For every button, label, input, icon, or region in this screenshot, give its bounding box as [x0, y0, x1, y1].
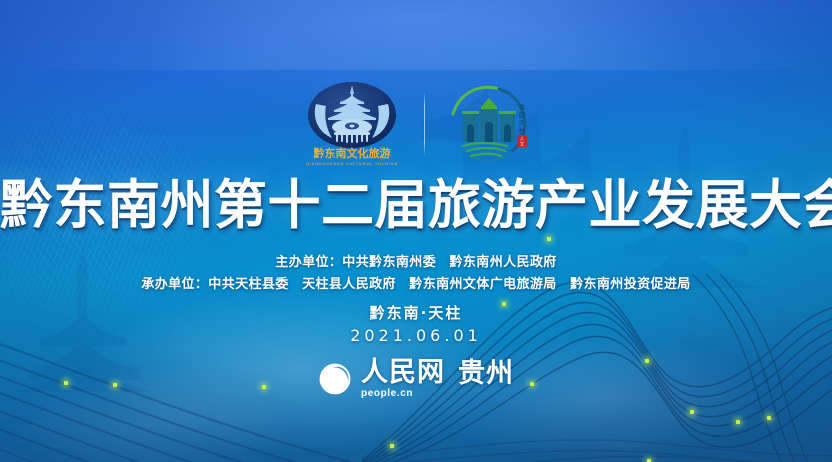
organizer-line-co-host: 承办单位：中共天柱县委 天柱县人民政府 黔东南州文体广电旅游局 黔东南州投资促进…	[0, 274, 832, 296]
spark-dot	[390, 444, 394, 448]
place-date-block: 黔东南·天柱 2021.06.01	[0, 302, 832, 348]
people-cn-globe-icon	[318, 362, 352, 396]
organizer-block: 主办单位：中共黔东南州委 黔东南州人民政府 承办单位：中共天柱县委 天柱县人民政…	[0, 252, 832, 296]
spark-dot	[547, 237, 551, 241]
brand-name-cn: 人民网	[361, 358, 445, 387]
spark-dot	[736, 420, 740, 424]
brand-domain: people.cn	[361, 388, 413, 400]
archway-emblem: 古 韵 天 柱 人 文	[441, 82, 537, 166]
emblem-right-text-2: 韵	[518, 110, 525, 119]
brand-province: 贵州	[458, 359, 514, 389]
people-cn-brand: 人民网 people.cn 贵州	[0, 358, 832, 400]
page-title: 黔东南州第十二届旅游产业发展大会	[0, 176, 832, 236]
emblem-left-chinese-text: 黔东南文化旅游	[313, 146, 390, 160]
emblem-seal-text-2: 文	[519, 141, 524, 148]
event-date: 2021.06.01	[0, 324, 832, 348]
emblem-right-text-4: 柱	[518, 126, 525, 135]
emblem-right-text-3: 天	[518, 119, 525, 127]
event-location: 黔东南·天柱	[0, 302, 832, 324]
spark-dot	[767, 416, 771, 420]
emblem-left-latin-text: QIANDONGNAN CULTURAL TOURISM	[305, 161, 397, 166]
organizer-line-host: 主办单位：中共黔东南州委 黔东南州人民政府	[0, 252, 832, 274]
emblem-right-text-1: 古	[518, 102, 525, 111]
qiandongnan-culture-tourism-emblem: 黔东南文化旅游 QIANDONGNAN CULTURAL TOURISM	[296, 80, 408, 168]
emblem-row: 黔东南文化旅游 QIANDONGNAN CULTURAL TOURISM	[0, 78, 832, 170]
spark-dot	[690, 410, 694, 414]
background-light-band	[0, 0, 832, 70]
emblem-divider	[424, 92, 425, 156]
event-poster: 黔东南文化旅游 QIANDONGNAN CULTURAL TOURISM	[0, 0, 832, 462]
